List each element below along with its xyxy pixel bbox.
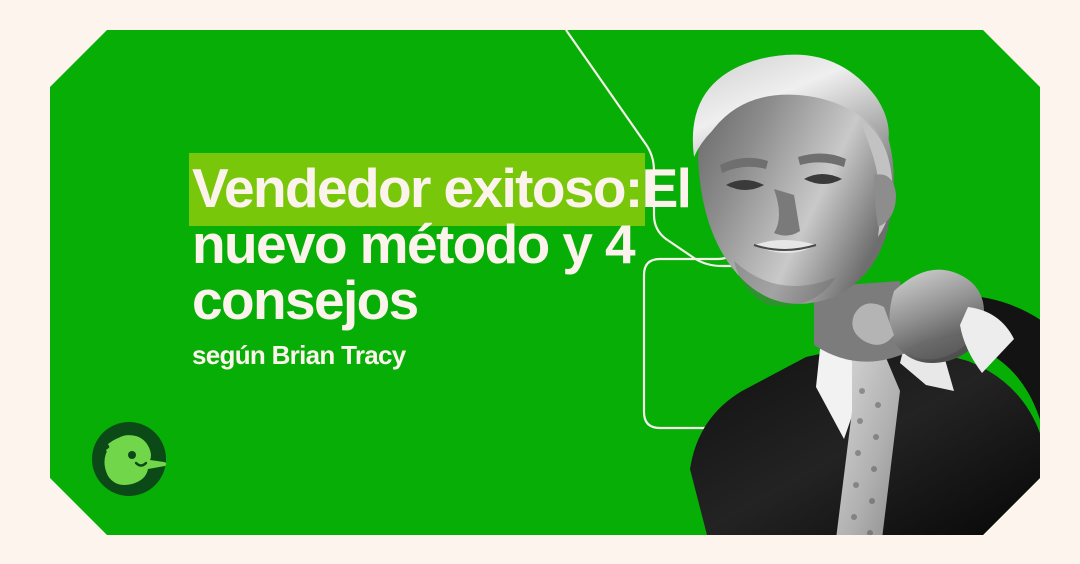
headline-line3: consejos [192,269,418,331]
banner-stage: Vendedor exitoso:Elnuevo método y 4conse… [0,0,1080,564]
kiwi-bird-icon [88,418,170,500]
page-title: Vendedor exitoso:Elnuevo método y 4conse… [192,160,712,328]
copy-block: Vendedor exitoso:Elnuevo método y 4conse… [192,160,712,370]
brand-logo[interactable] [88,418,170,500]
kiwi-eye [128,451,136,459]
headline-line2: nuevo método y 4 [192,213,634,275]
headline-rest-line1: El [642,157,691,219]
headline-kicker: según Brian Tracy [192,340,712,370]
green-card: Vendedor exitoso:Elnuevo método y 4conse… [50,30,1040,535]
ear [874,174,896,227]
